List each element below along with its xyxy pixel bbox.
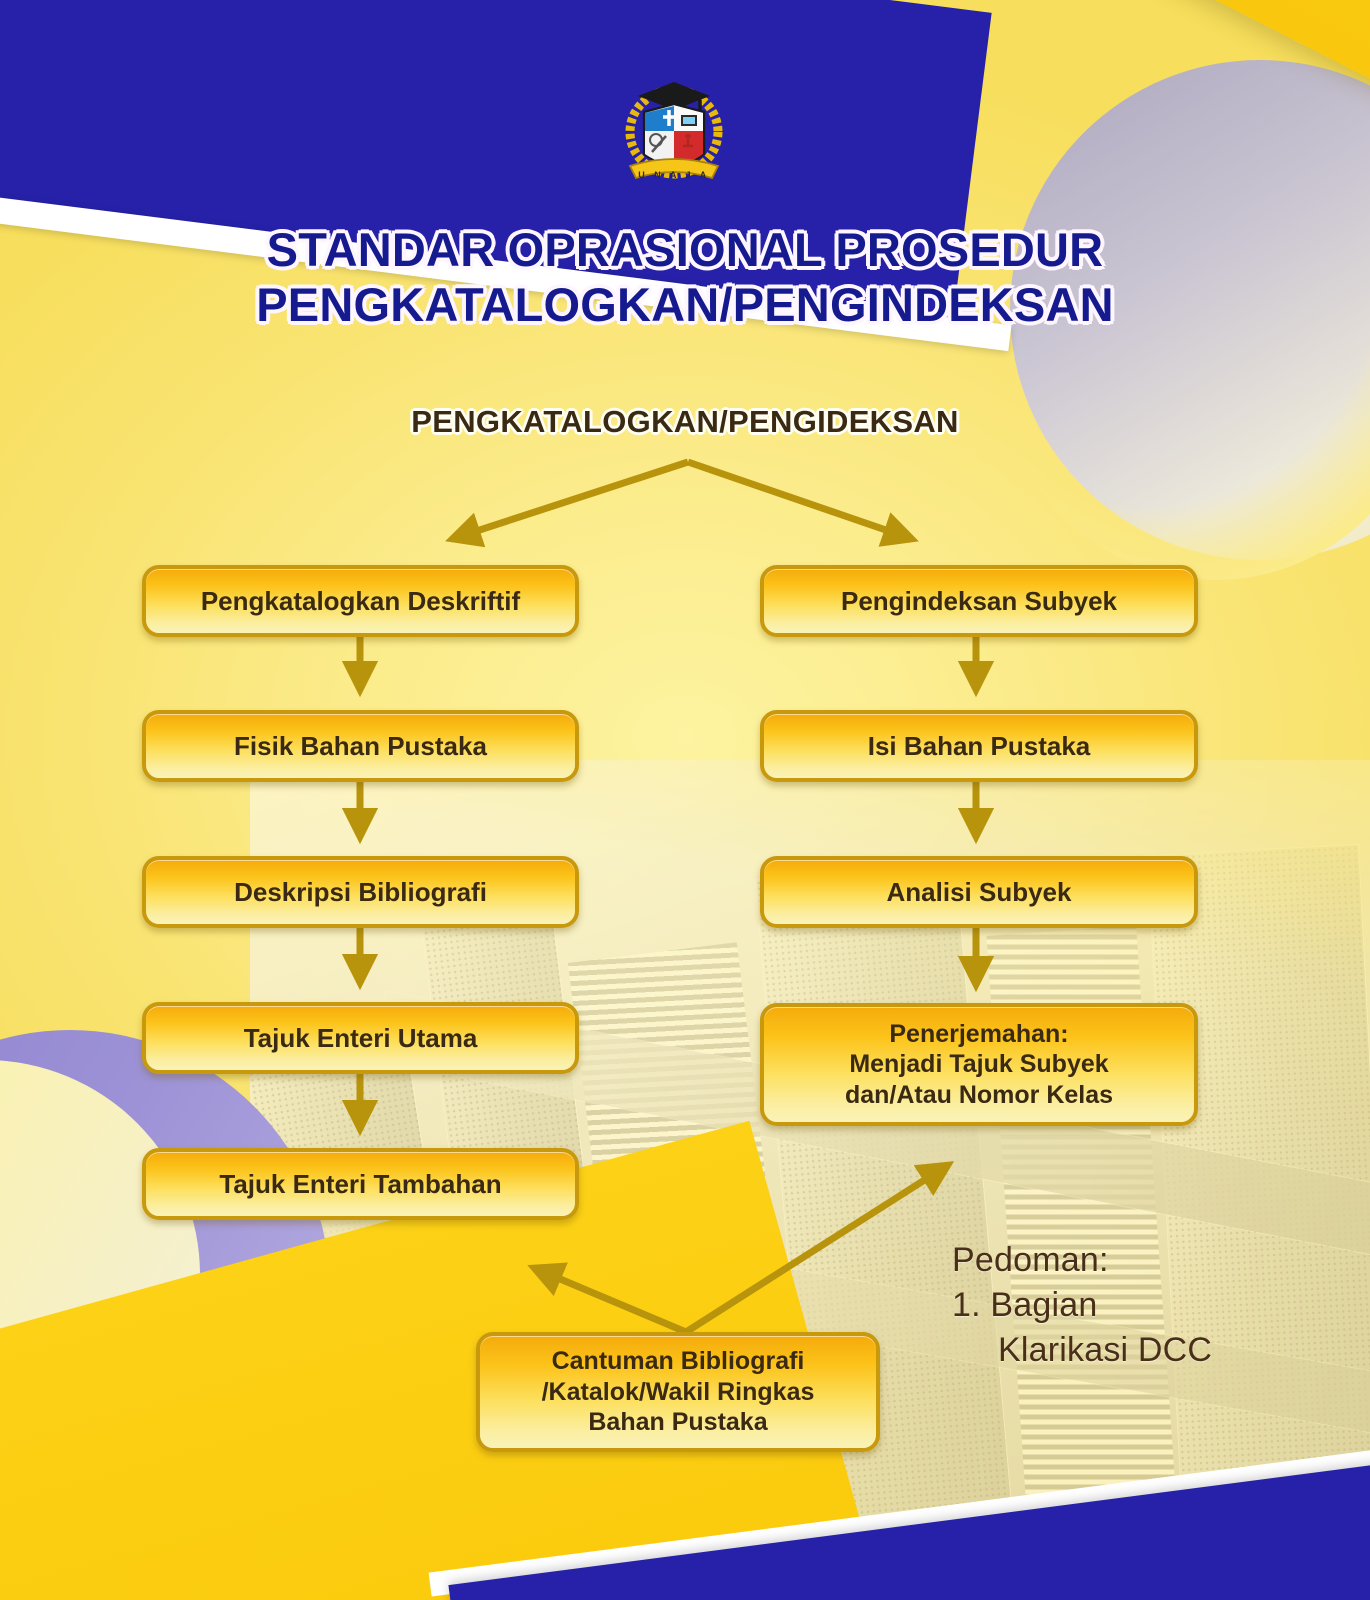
branch-arrow-right [688, 462, 912, 539]
node-label: Fisik Bahan Pustaka [234, 731, 487, 762]
pedoman-heading: Pedoman: [952, 1238, 1212, 1283]
pedoman-note: Pedoman: 1. Bagian Klarikasi DCC [952, 1238, 1212, 1373]
arrow-cantuman-to-penerjemahan [686, 1165, 948, 1332]
poster-canvas: U N A J A STANDAR OPRASIONAL PROSEDUR PE… [0, 0, 1370, 1600]
node-penerjemahan[interactable]: Penerjemahan: Menjadi Tajuk Subyek dan/A… [760, 1003, 1198, 1126]
arrow-cantuman-to-left-column [534, 1268, 686, 1332]
node-label-line-3: Bahan Pustaka [588, 1407, 767, 1438]
node-cantuman-bibliografi[interactable]: Cantuman Bibliografi /Katalok/Wakil Ring… [476, 1332, 880, 1452]
pedoman-item-line-1: 1. Bagian [952, 1283, 1212, 1328]
node-label: Pengkatalogkan Deskriftif [201, 586, 520, 617]
pedoman-item-line-2: Klarikasi DCC [952, 1328, 1212, 1373]
pedoman-item-text: Bagian [990, 1286, 1097, 1324]
node-tajuk-enteri-utama[interactable]: Tajuk Enteri Utama [142, 1002, 579, 1074]
node-label: Tajuk Enteri Utama [244, 1023, 478, 1054]
pedoman-item-number: 1. [952, 1286, 981, 1324]
pedoman-item-text-cont: Klarikasi DCC [952, 1328, 1212, 1373]
node-analisi-subyek[interactable]: Analisi Subyek [760, 856, 1198, 928]
node-label: Pengindeksan Subyek [841, 586, 1117, 617]
branch-arrow-left [452, 462, 688, 539]
node-label-line-1: Penerjemahan: [889, 1019, 1068, 1050]
node-label: Deskripsi Bibliografi [234, 877, 487, 908]
node-isi-bahan-pustaka[interactable]: Isi Bahan Pustaka [760, 710, 1198, 782]
node-deskripsi-bibliografi[interactable]: Deskripsi Bibliografi [142, 856, 579, 928]
node-label: Analisi Subyek [887, 877, 1072, 908]
node-pengkatalogkan-deskriftif[interactable]: Pengkatalogkan Deskriftif [142, 565, 579, 637]
node-label: Tajuk Enteri Tambahan [219, 1169, 501, 1200]
node-label: Isi Bahan Pustaka [868, 731, 1091, 762]
node-label-line-3: dan/Atau Nomor Kelas [845, 1080, 1113, 1111]
node-pengindeksan-subyek[interactable]: Pengindeksan Subyek [760, 565, 1198, 637]
node-label-line-2: /Katalok/Wakil Ringkas [542, 1377, 815, 1408]
node-fisik-bahan-pustaka[interactable]: Fisik Bahan Pustaka [142, 710, 579, 782]
node-label-line-2: Menjadi Tajuk Subyek [849, 1049, 1108, 1080]
node-tajuk-enteri-tambahan[interactable]: Tajuk Enteri Tambahan [142, 1148, 579, 1220]
node-label-line-1: Cantuman Bibliografi [552, 1346, 805, 1377]
